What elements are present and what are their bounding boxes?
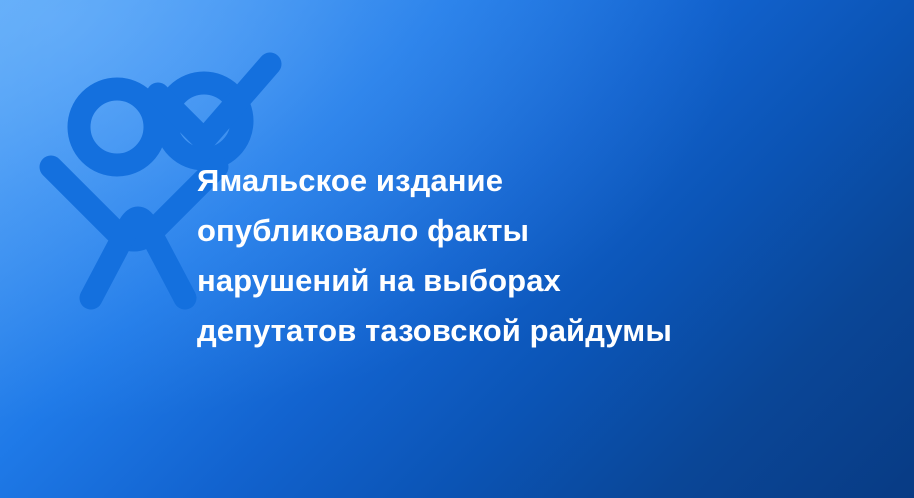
headline-text: Ямальское издание опубликовало факты нар…: [197, 156, 857, 356]
head-left-ring-icon: [79, 89, 155, 165]
news-card: Ямальское издание опубликовало факты нар…: [0, 0, 914, 498]
